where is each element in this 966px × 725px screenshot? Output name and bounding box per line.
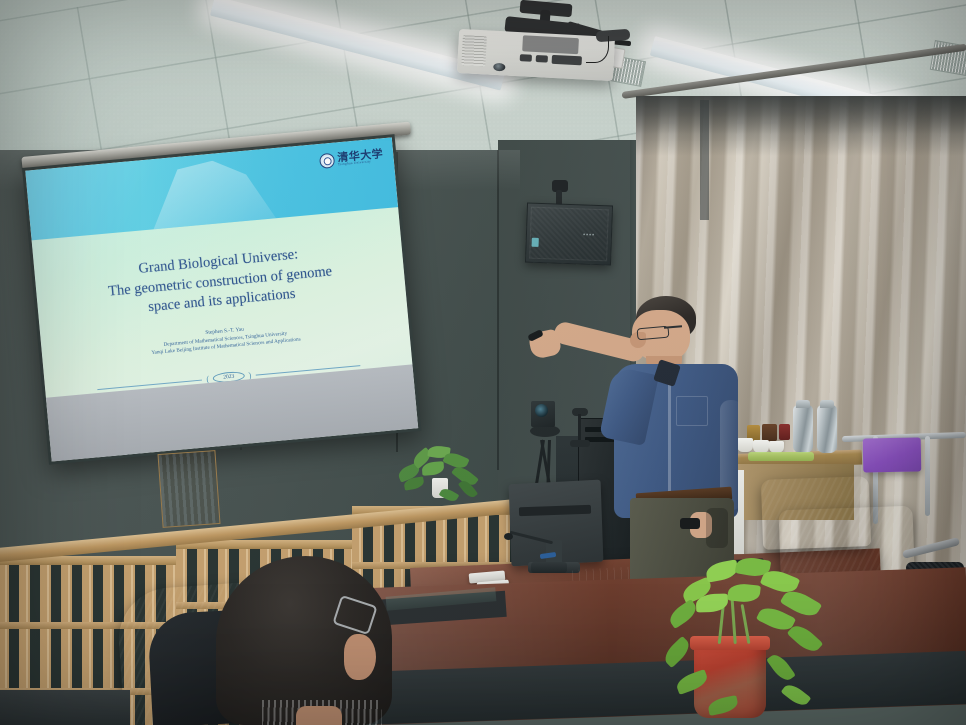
red-pot-rim	[690, 636, 770, 650]
wooden-panel-upright	[157, 450, 220, 528]
thermos-2	[817, 405, 837, 453]
green-tray	[748, 452, 814, 461]
wall-seam-2	[497, 150, 499, 470]
seminar-room-photo: 清华大学 Tsinghua University Grand Biologica…	[0, 0, 966, 725]
shirt-pocket	[676, 396, 708, 426]
tea-tin-red	[779, 424, 790, 440]
trouser-pocket-shadow	[706, 508, 728, 548]
floor	[0, 690, 130, 725]
audience-ear	[344, 634, 376, 680]
mic-stand-pole	[578, 414, 581, 442]
speaker-grille	[529, 207, 609, 262]
slide-author-block: Stephen S.-T. Yau Department of Mathemat…	[59, 313, 391, 365]
microphone-base	[531, 562, 567, 573]
speaker-brand-text: ●●●●	[583, 231, 595, 236]
railing-post-2	[925, 436, 930, 516]
tsinghua-seal-icon	[319, 153, 335, 169]
thermos-cap-1	[796, 400, 810, 408]
presenter-wristwatch	[680, 518, 700, 529]
slide-title: Grand Biological Universe: The geometric…	[53, 238, 388, 326]
curtain-header-shadow	[636, 96, 966, 156]
thermos-cap-2	[820, 400, 834, 408]
wall-speaker: ●●●●	[525, 203, 613, 266]
camera-lens	[535, 404, 548, 417]
tea-tin-brown	[762, 424, 777, 441]
slide-header-building-photo	[128, 147, 296, 231]
potted-plant-red	[662, 548, 852, 725]
audience-neck	[296, 706, 342, 725]
shirt-placket	[668, 370, 671, 510]
purple-cloth	[863, 437, 922, 472]
projection-screen-frame: 清华大学 Tsinghua University Grand Biologica…	[22, 134, 421, 465]
mic-stand-base	[570, 440, 590, 447]
thermos-1	[793, 405, 813, 453]
projection-screen-surface: 清华大学 Tsinghua University Grand Biologica…	[25, 137, 418, 461]
speaker-indicator	[532, 238, 539, 247]
potted-plant-white	[394, 444, 490, 506]
microphone-head	[504, 533, 513, 540]
